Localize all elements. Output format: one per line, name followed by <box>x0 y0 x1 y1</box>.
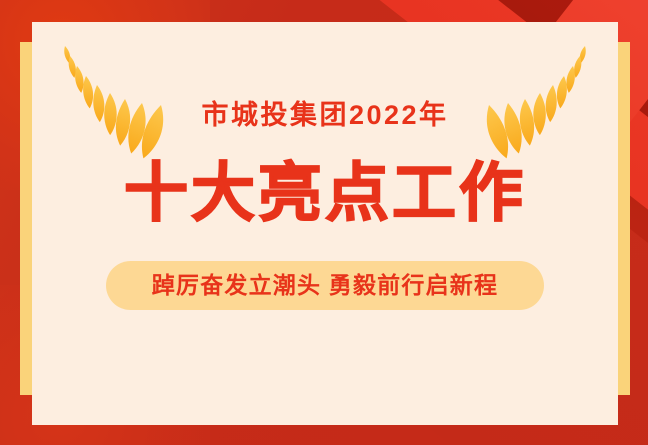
subtitle-slogan-pill: 踔厉奋发立潮头 勇毅前行启新程 <box>106 261 544 310</box>
wheat-sprig-left-icon <box>57 40 207 144</box>
poster-content: 市城投集团2022年 <box>32 22 618 425</box>
poster-canvas: 市城投集团2022年 <box>0 0 648 445</box>
headline-row: 市城投集团2022年 <box>32 84 618 146</box>
wheat-sprig-right-icon <box>443 40 593 144</box>
page-title: 十大亮点工作 <box>124 160 526 227</box>
eyebrow-title: 市城投集团2022年 <box>201 102 448 129</box>
